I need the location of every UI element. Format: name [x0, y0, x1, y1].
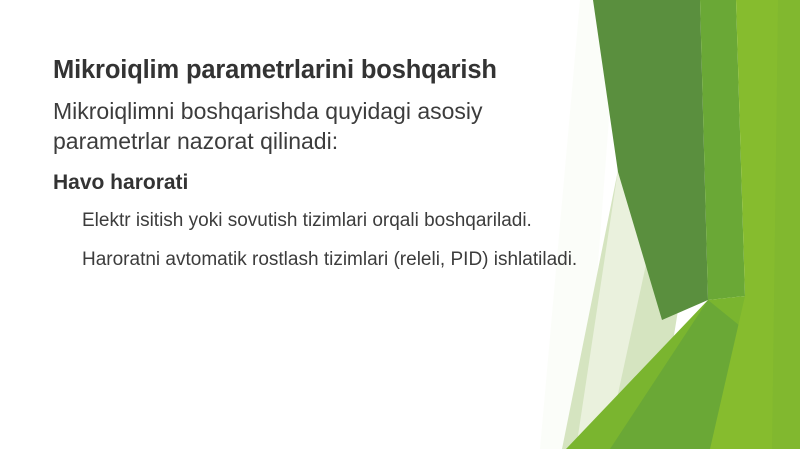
slide-subheading: Havo harorati: [53, 169, 598, 196]
facet-right-highlight: [772, 0, 800, 449]
facet-right-column: [710, 0, 800, 449]
slide-title: Mikroiqlim parametrlarini boshqarish: [53, 55, 598, 87]
facet-dark-blade: [593, 0, 708, 320]
slide: Mikroiqlim parametrlarini boshqarish Mik…: [0, 0, 800, 449]
facet-lower-accent: [610, 300, 745, 449]
facet-bright-lower: [566, 296, 750, 449]
slide-lead-paragraph: Mikroiqlimni boshqarishda quyidagi asosi…: [53, 96, 593, 157]
facet-mid-band: [700, 0, 745, 300]
list-item: Haroratni avtomatik rostlash tizimlari (…: [53, 248, 598, 273]
slide-content: Mikroiqlim parametrlarini boshqarish Mik…: [53, 55, 598, 273]
list-item: Elektr isitish yoki sovutish tizimlari o…: [53, 209, 598, 234]
bullet-list: Elektr isitish yoki sovutish tizimlari o…: [53, 209, 598, 272]
